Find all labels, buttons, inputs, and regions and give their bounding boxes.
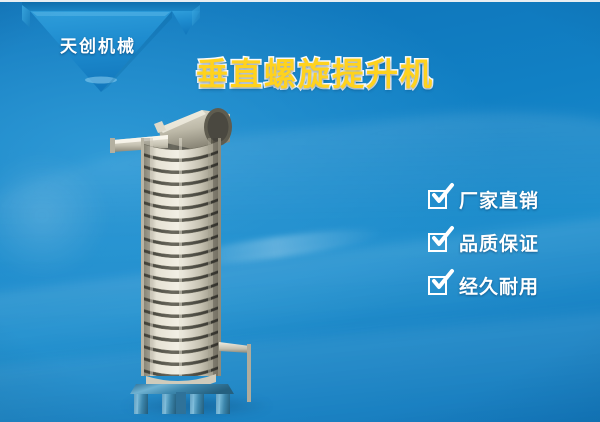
- product-banner: 天创机械 垂直螺旋提升机: [0, 0, 600, 422]
- background-vignette: [0, 2, 600, 422]
